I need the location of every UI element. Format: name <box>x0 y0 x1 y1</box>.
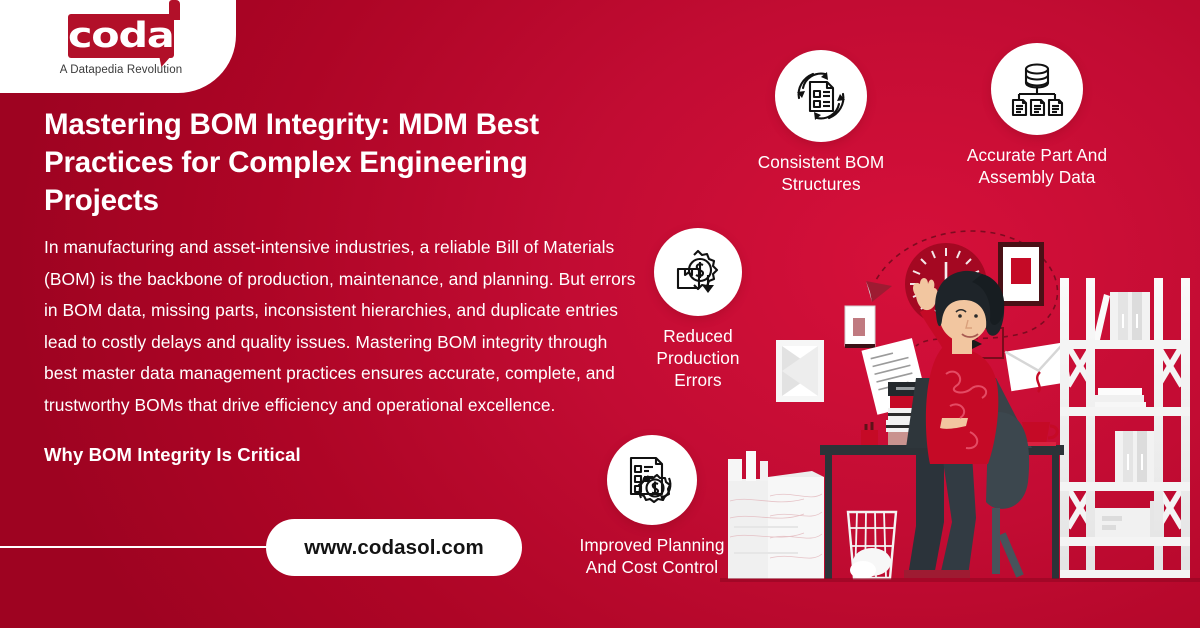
feature-label: Improved Planning And Cost Control <box>554 534 750 578</box>
brand-tagline: A Datapedia Revolution <box>60 64 182 76</box>
pencil-cup <box>861 422 878 445</box>
brand-logo[interactable]: coda A Datapedia Revolution <box>48 14 194 76</box>
feature-label: Accurate Part And Assembly Data <box>940 144 1134 188</box>
feature-consistent-bom-structures[interactable]: Consistent BOM Structures <box>720 50 922 195</box>
website-url-pill[interactable]: www.codasol.com <box>266 519 522 576</box>
framed-picture-dark <box>998 242 1044 306</box>
paper-plane-icon <box>866 281 892 302</box>
feature-label: Reduced Production Errors <box>618 325 778 391</box>
database-hierarchy-icon <box>991 43 1083 135</box>
feature-label: Consistent BOM Structures <box>720 151 922 195</box>
divider-rule <box>0 546 290 548</box>
section-subheading: Why BOM Integrity Is Critical <box>44 443 639 467</box>
tablet-icon <box>845 306 875 348</box>
framed-picture-light <box>776 340 824 402</box>
illustration-workspace <box>720 196 1200 628</box>
gear-dollar-box-arrow-down-icon <box>654 228 742 316</box>
checklist-gear-dollar-icon <box>607 435 697 525</box>
copy-column: Mastering BOM Integrity: MDM Best Practi… <box>44 106 639 467</box>
coda-wordmark: coda <box>68 19 174 53</box>
feature-accurate-part-assembly-data[interactable]: Accurate Part And Assembly Data <box>940 43 1134 188</box>
brand-logo-block[interactable]: coda A Datapedia Revolution <box>0 0 236 93</box>
logo-flag-accent <box>169 0 180 20</box>
shelf-books <box>1092 388 1146 409</box>
marketing-banner: coda A Datapedia Revolution Mastering BO… <box>0 0 1200 628</box>
page-title: Mastering BOM Integrity: MDM Best Practi… <box>44 106 639 220</box>
shelf-binders-top <box>1093 292 1150 340</box>
checklist-document-cycle-icon <box>775 50 867 142</box>
waste-basket <box>848 512 896 579</box>
shelf-box <box>1094 501 1164 538</box>
feature-improved-planning-cost-control[interactable]: Improved Planning And Cost Control <box>554 435 750 578</box>
shelf-binders-mid <box>1115 431 1157 483</box>
website-url-label: www.codasol.com <box>304 536 484 560</box>
bookshelf <box>1060 278 1190 578</box>
coda-logo-mark: coda <box>68 14 174 58</box>
body-paragraph: In manufacturing and asset-intensive ind… <box>44 232 639 421</box>
feature-reduced-production-errors[interactable]: Reduced Production Errors <box>618 228 778 391</box>
